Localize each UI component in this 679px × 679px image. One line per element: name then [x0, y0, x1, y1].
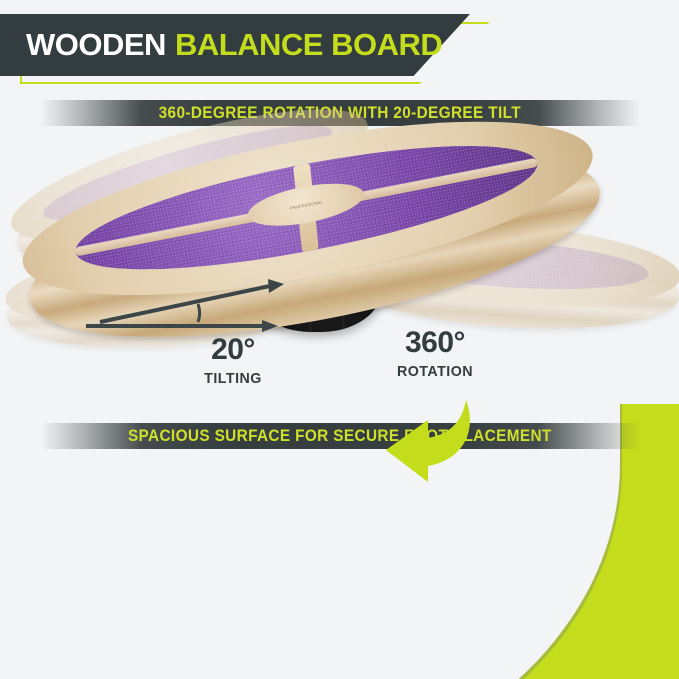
header-banner: WOODEN BALANCE BOARD — [0, 0, 679, 96]
metric-tilt-caption: TILTING — [171, 370, 295, 387]
tilt-angle-indicator — [80, 270, 300, 340]
subtitle-text-surface: SPACIOUS SURFACE FOR SECURE FOOT PLACEME… — [128, 427, 552, 446]
subtitle-bar-surface: SPACIOUS SURFACE FOR SECURE FOOT PLACEME… — [40, 423, 640, 449]
product-scene-dimensions: 15.75” 3.1” PROFESSIONAL — [0, 450, 679, 679]
metric-tilt: 20° TILTING — [168, 335, 298, 387]
title-word-wooden: WOODEN — [26, 27, 166, 63]
page-title: WOODEN BALANCE BOARD — [26, 18, 442, 72]
metric-tilt-value: 20° — [168, 335, 298, 365]
metric-rotation: 360° ROTATION — [360, 328, 510, 380]
product-scene-tilt-rotation: PROFESSIONAL 20° TILTING 360° ROTATION — [0, 130, 679, 420]
title-word-balance-board: BALANCE BOARD — [175, 27, 442, 63]
infographic-page: WOODEN BALANCE BOARD 360-DEGREE ROTATION… — [0, 0, 679, 679]
metric-rotation-value: 360° — [360, 328, 510, 358]
center-logo-text: PROFESSIONAL — [289, 199, 323, 210]
metric-rotation-caption: ROTATION — [364, 363, 507, 380]
